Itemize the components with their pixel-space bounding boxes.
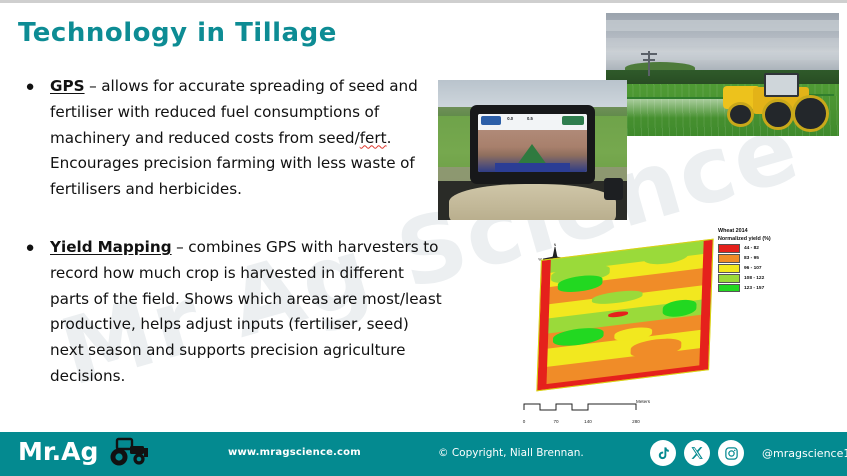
tractor-bonnet (449, 184, 615, 220)
bullet-dash: – (85, 77, 102, 95)
slide-title: Technology in Tillage (18, 18, 337, 48)
legend-range: 108 - 122 (744, 276, 764, 281)
bullet-body-before: combines GPS with harvesters to record h… (50, 238, 442, 385)
scale-tick: 140 (584, 419, 592, 424)
scale-tick: 280 (632, 419, 640, 424)
tiktok-icon (656, 446, 671, 461)
legend-range: 96 - 107 (744, 266, 762, 271)
bullet-marker: ● (22, 74, 38, 100)
gps-status-bar: 0.0 0.5 (478, 114, 588, 130)
gps-field-view (478, 130, 588, 172)
tractor-sprayer-photo (606, 13, 839, 136)
tractor-front-wheel (762, 99, 794, 130)
legend-row: 83 - 95 (718, 254, 800, 263)
gps-area-readout: 0.5 (527, 116, 533, 121)
legend-row: 96 - 107 (718, 264, 800, 273)
gps-speed-readout: 0.0 (507, 116, 513, 121)
scale-tick-labels: 0 70 140 280 (518, 419, 678, 426)
legend-range: 44 - 82 (744, 246, 759, 251)
misspelled-word: fert (360, 129, 387, 147)
legend-range: 83 - 95 (744, 256, 759, 261)
scale-unit-label: Meters (636, 399, 650, 404)
scale-tick: 70 (553, 419, 558, 424)
tractor-icon (106, 435, 150, 467)
tractor-rear-wheel (792, 95, 828, 132)
legend-row: 108 - 122 (718, 274, 800, 283)
brand-logo-text: Mr.Ag (18, 437, 98, 466)
gps-mode-button[interactable] (481, 116, 501, 126)
cab-control-knob (604, 178, 623, 200)
legend-swatch (718, 254, 740, 263)
copyright-text: © Copyright, Niall Brennan. (438, 447, 584, 459)
bullet-text: GPS – allows for accurate spreading of s… (50, 74, 442, 203)
bullet-term: GPS (50, 77, 85, 95)
bullet-dash: – (172, 238, 189, 256)
social-links: @mragscience1 (650, 440, 847, 466)
bullet-item-gps: ● GPS – allows for accurate spreading of… (22, 74, 442, 203)
legend-swatch (718, 244, 740, 253)
bullet-term: Yield Mapping (50, 238, 172, 256)
map-scale-bar: 0 70 140 280 Meters (518, 400, 678, 426)
x-twitter-button[interactable] (684, 440, 710, 466)
slide-body: ● GPS – allows for accurate spreading of… (22, 74, 442, 420)
legend-swatch (718, 264, 740, 273)
gps-implement-bar (495, 163, 570, 172)
sprayer-wheel (727, 102, 754, 128)
bullet-text: Yield Mapping – combines GPS with harves… (50, 235, 442, 390)
gps-terminal-photo: 0.0 0.5 (438, 80, 627, 220)
legend-row: 44 - 82 (718, 244, 800, 253)
gps-screen: 0.0 0.5 (478, 114, 588, 173)
legend-range: 123 - 157 (744, 286, 764, 291)
top-divider (0, 0, 847, 3)
yield-map-graphic: N E S W (512, 228, 744, 418)
website-url[interactable]: www.mragscience.com (228, 447, 361, 458)
yield-map-legend: Wheat 2014 Normalized yield (%) 44 - 82 … (718, 228, 800, 292)
cloud (606, 38, 839, 47)
legend-swatch (718, 274, 740, 283)
presentation-slide: Mr Ag Science Technology in Tillage ● GP… (0, 0, 847, 476)
legend-swatch (718, 284, 740, 293)
legend-title-crop-year: Wheat 2014 (718, 228, 800, 236)
tiktok-button[interactable] (650, 440, 676, 466)
legend-title-measure: Normalized yield (%) (718, 236, 800, 244)
gps-menu-button[interactable] (562, 116, 584, 126)
social-handle: @mragscience1 (762, 447, 847, 460)
pylon (648, 51, 650, 76)
bullet-marker: ● (22, 235, 38, 261)
scale-tick: 0 (523, 419, 526, 424)
cloud (606, 20, 839, 31)
x-twitter-icon (690, 446, 704, 460)
tractor-cab (764, 73, 798, 97)
slide-footer: Mr.Ag www.mragscience.com © Copyright, N… (0, 432, 847, 476)
bullet-item-yield-mapping: ● Yield Mapping – combines GPS with harv… (22, 235, 442, 390)
instagram-button[interactable] (718, 440, 744, 466)
svg-text:N: N (554, 243, 557, 247)
brand-logo[interactable]: Mr.Ag (18, 435, 150, 467)
legend-row: 123 - 157 (718, 284, 800, 293)
instagram-icon (724, 446, 739, 461)
yield-map-field-polygon (536, 239, 713, 392)
